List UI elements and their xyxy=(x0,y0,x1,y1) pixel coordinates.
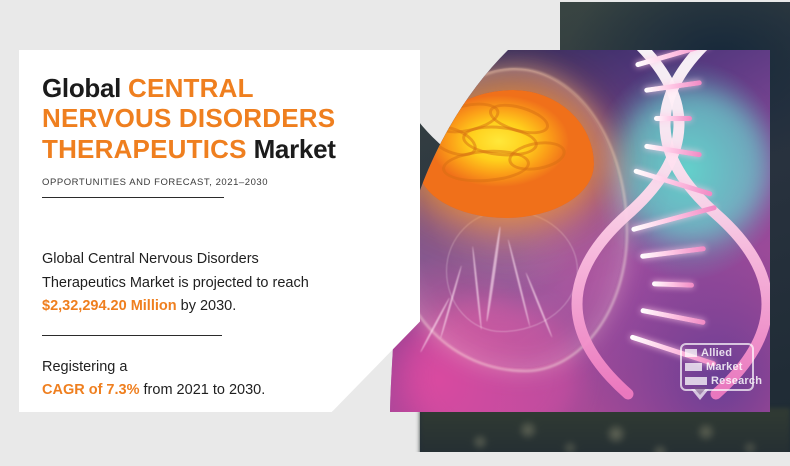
logo-line-1: Allied xyxy=(701,347,732,359)
logo-bubble-tail-inner xyxy=(693,387,707,395)
divider-top xyxy=(42,197,224,198)
divider-bottom xyxy=(42,335,222,336)
title-lead: Global xyxy=(42,73,121,103)
stat-line-2: Therapeutics Market is projected to reac… xyxy=(42,272,372,295)
cagr-value: CAGR of 7.3% xyxy=(42,382,140,398)
cagr-line-1: Registering a xyxy=(42,356,372,379)
allied-market-research-logo: Allied Market Research xyxy=(680,343,754,391)
stat-value: $2,32,294.20 Million xyxy=(42,298,177,314)
cagr-block: Registering a CAGR of 7.3% from 2021 to … xyxy=(42,356,372,402)
logo-bar xyxy=(685,349,697,357)
logo-bar xyxy=(685,363,702,371)
logo-line-2: Market xyxy=(706,361,743,373)
backdrop-top-strip xyxy=(0,0,790,2)
logo-line-3: Research xyxy=(711,375,762,387)
page-title: Global CENTRAL NERVOUS DISORDERS THERAPE… xyxy=(42,73,372,164)
cagr-line-2: CAGR of 7.3% from 2021 to 2030. xyxy=(42,379,372,402)
dna-rung xyxy=(654,116,692,121)
stat-line-3: $2,32,294.20 Million by 2030. xyxy=(42,295,372,318)
dna-helix-graphic xyxy=(600,50,750,384)
card-content: Global CENTRAL NERVOUS DISORDERS THERAPE… xyxy=(42,73,372,402)
logo-bar xyxy=(685,377,707,385)
backdrop-bottom-strip xyxy=(0,452,790,466)
title-trail: Market xyxy=(254,134,336,164)
stat-block: Global Central Nervous Disorders Therape… xyxy=(42,248,372,318)
stat-line-3-tail: by 2030. xyxy=(181,298,237,314)
stat-line-1: Global Central Nervous Disorders xyxy=(42,248,372,271)
subtitle: OPPORTUNITIES AND FORECAST, 2021–2030 xyxy=(42,177,372,188)
cagr-tail: from 2021 to 2030. xyxy=(144,382,266,398)
